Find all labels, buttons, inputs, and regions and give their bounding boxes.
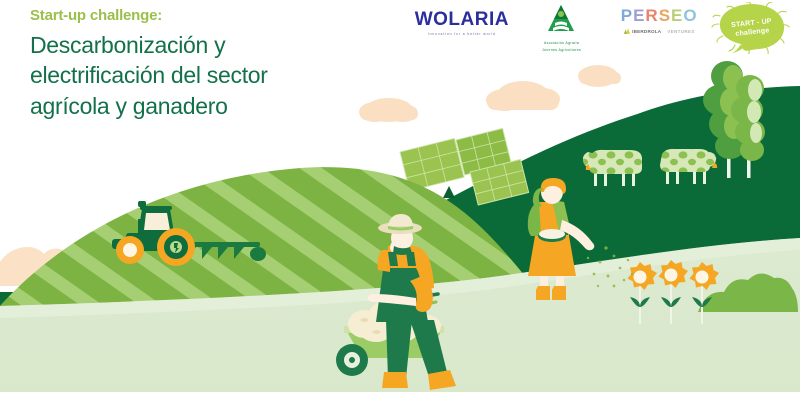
asaja-line-2: Jóvenes Agricultores bbox=[516, 48, 608, 53]
perseo-partners: IBERDROLA VENTURES bbox=[607, 28, 711, 34]
title-line-3: agrícola y ganadero bbox=[30, 91, 390, 122]
logo-strip: WOLARIA Innovation for a better world As… bbox=[408, 2, 793, 54]
page-title: Descarbonización y electrificación del s… bbox=[30, 30, 390, 122]
perseo-letter-4: E bbox=[671, 6, 683, 25]
perseo-letter-2: R bbox=[645, 6, 658, 25]
kicker-text: Start-up challenge: bbox=[30, 8, 390, 25]
wolaria-tagline: Innovation for a better world bbox=[408, 32, 516, 36]
poster-banner: Start-up challenge: Descarbonización y e… bbox=[0, 0, 800, 400]
perseo-letter-1: E bbox=[633, 6, 645, 25]
perseo-letter-0: P bbox=[621, 6, 633, 25]
title-line-1: Descarbonización y bbox=[30, 30, 390, 61]
ventures-text: VENTURES bbox=[667, 29, 694, 34]
iberdrola-mark-icon bbox=[624, 28, 631, 34]
asaja-mark-icon bbox=[544, 4, 578, 34]
logo-perseo[interactable]: PERSEO IBERDROLA VENTURES bbox=[607, 2, 711, 34]
perseo-letter-3: S bbox=[659, 6, 671, 25]
asaja-line-1: Asociación Agraria bbox=[516, 41, 608, 46]
logo-startup-challenge[interactable]: START - UP challenge bbox=[711, 2, 793, 54]
iberdrola-logo[interactable]: IBERDROLA bbox=[624, 28, 662, 34]
logo-asaja[interactable]: Asociación Agraria Jóvenes Agricultores bbox=[516, 2, 608, 53]
iberdrola-text: IBERDROLA bbox=[632, 29, 661, 34]
title-line-2: electrificación del sector bbox=[30, 60, 390, 91]
perseo-wordmark: PERSEO bbox=[607, 7, 711, 24]
logo-wolaria[interactable]: WOLARIA Innovation for a better world bbox=[408, 2, 516, 36]
perseo-letter-5: O bbox=[683, 6, 697, 25]
headline-block: Start-up challenge: Descarbonización y e… bbox=[30, 8, 390, 121]
wolaria-wordmark: WOLARIA bbox=[408, 10, 516, 29]
startup-blob-icon bbox=[711, 2, 793, 54]
